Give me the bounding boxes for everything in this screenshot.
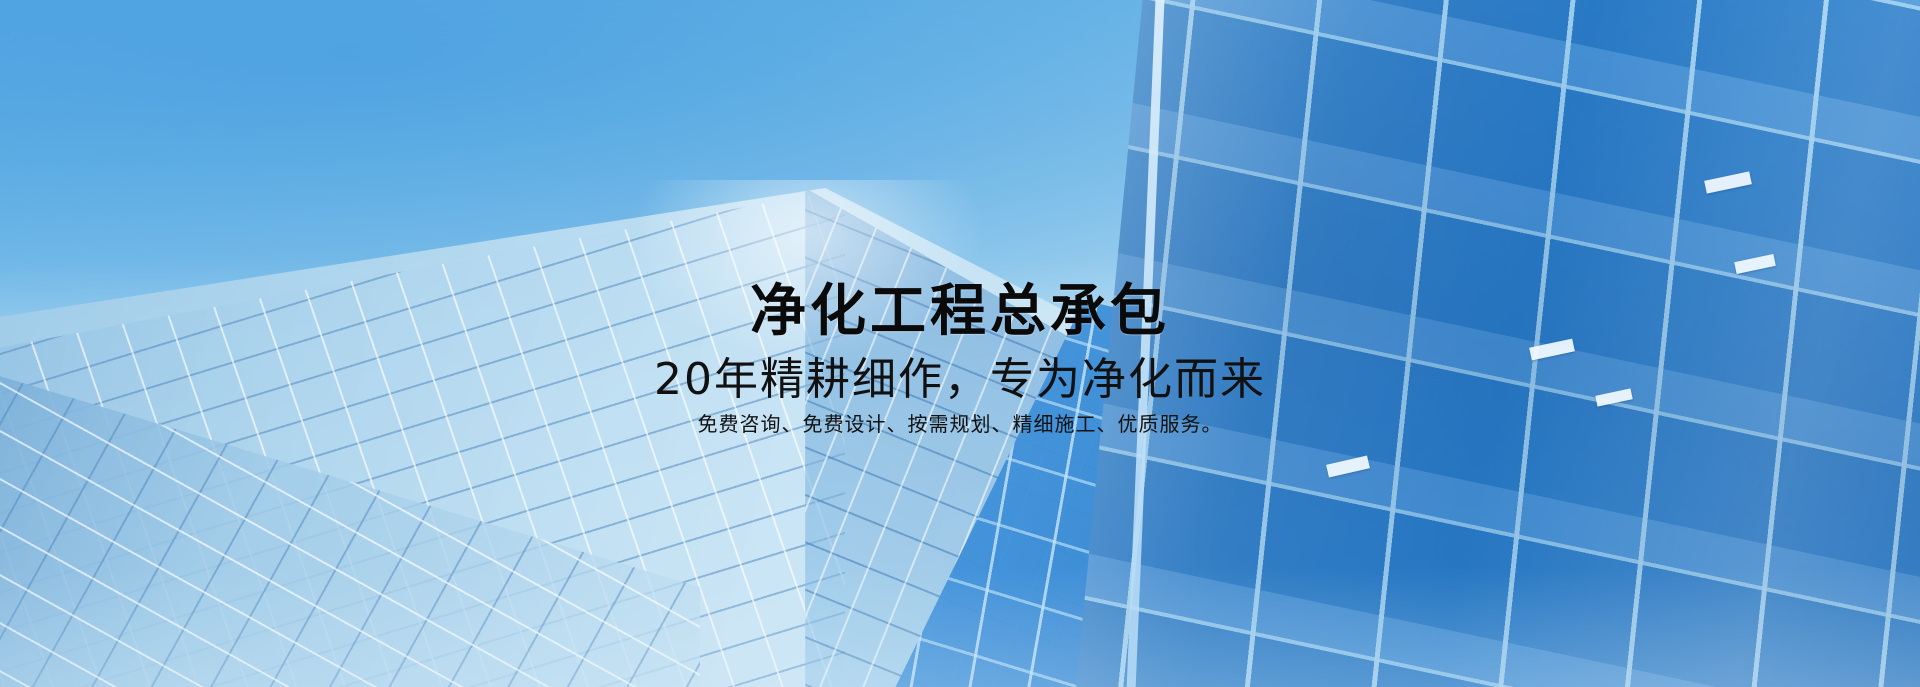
hero-subline: 20年精耕细作，专为净化而来 bbox=[0, 355, 1920, 404]
right-glass-tower bbox=[1070, 0, 1920, 687]
hero-headline: 净化工程总承包 bbox=[0, 282, 1920, 341]
glass-sheen bbox=[1070, 0, 1920, 687]
hero-banner: 净化工程总承包 20年精耕细作，专为净化而来 免费咨询、免费设计、按需规划、精细… bbox=[0, 0, 1920, 687]
hero-copy: 净化工程总承包 20年精耕细作，专为净化而来 免费咨询、免费设计、按需规划、精细… bbox=[0, 282, 1920, 437]
hero-tagline: 免费咨询、免费设计、按需规划、精细施工、优质服务。 bbox=[0, 411, 1920, 437]
